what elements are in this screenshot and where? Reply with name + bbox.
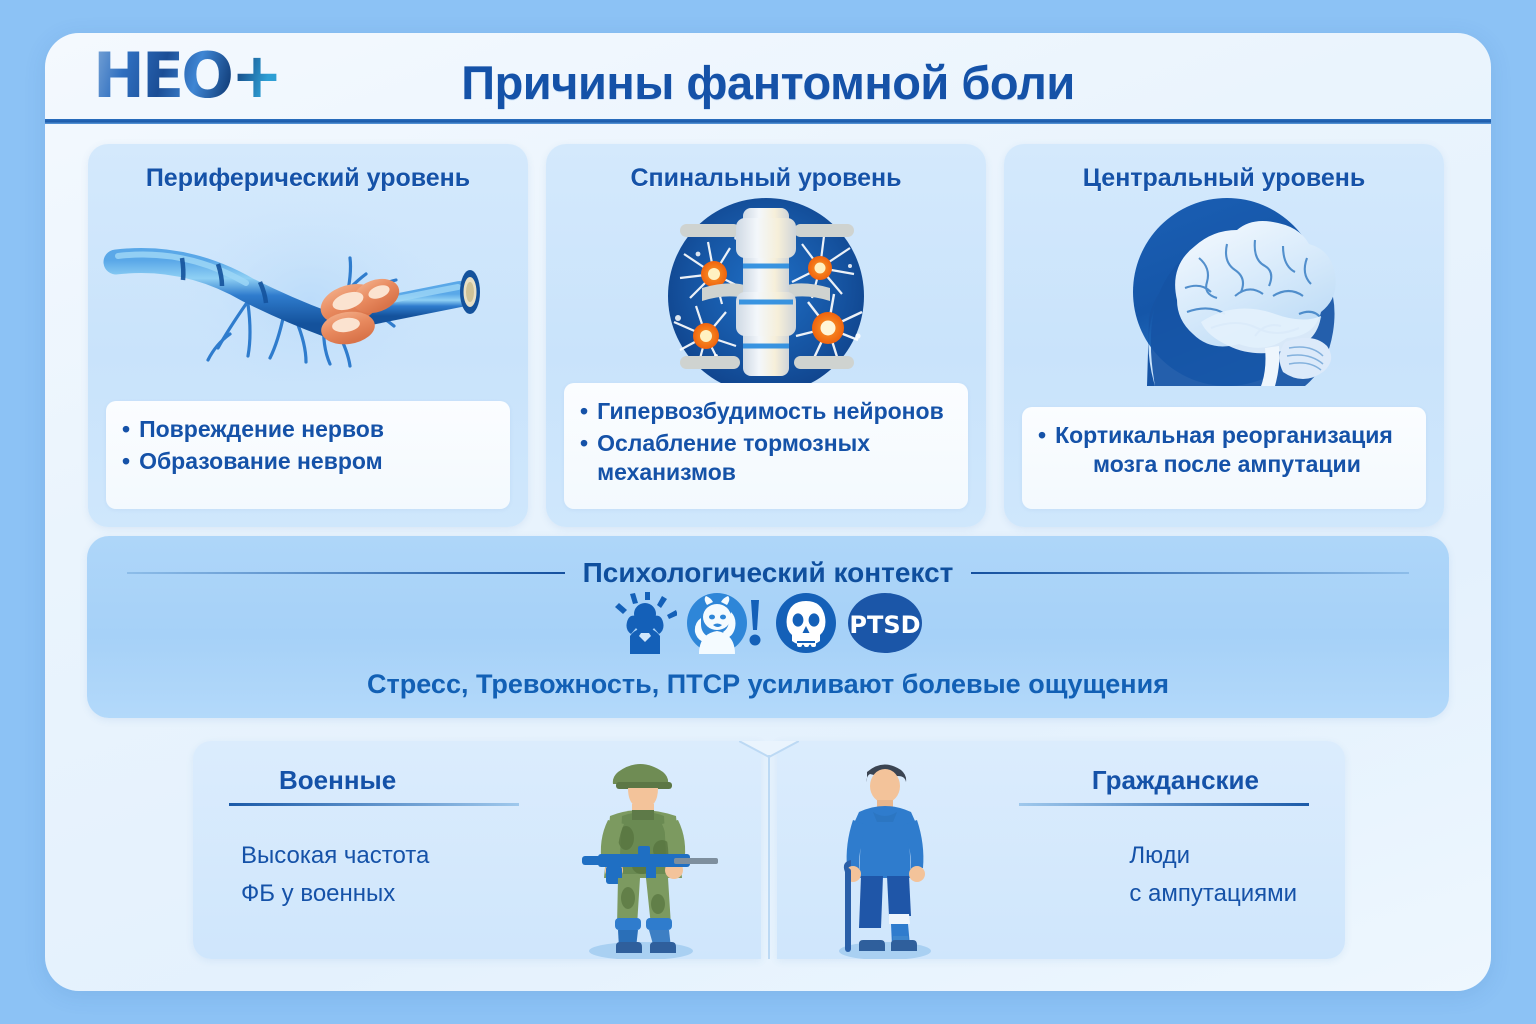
page-title: Причины фантомной боли <box>45 55 1491 110</box>
bullet-dot: • <box>1038 421 1046 479</box>
psych-rule-right <box>971 572 1409 574</box>
bullet-dot: • <box>580 397 588 426</box>
skull-icon <box>775 592 837 659</box>
level-card-spinal[interactable]: Спинальный уровень <box>546 144 986 527</box>
anxiety-person-exclamation-icon <box>687 592 765 659</box>
psych-icon-row: PTSD <box>87 594 1449 656</box>
brain-profile-illustration <box>1004 196 1444 386</box>
psychological-context-panel[interactable]: Психологический контекст <box>87 536 1449 718</box>
bullet-item: • Ослабление тормозных механизмов <box>580 429 952 487</box>
bullet-text-line2: мозга после ампутации <box>1055 450 1393 479</box>
group-civilian-text: Люди с ампутациями <box>1129 837 1297 913</box>
psych-heading-row: Психологический контекст <box>127 558 1409 588</box>
bullet-item: • Гипервозбудимость нейронов <box>580 397 952 426</box>
group-military-heading: Военные <box>279 765 396 796</box>
bullet-text: Ослабление тормозных механизмов <box>597 429 870 487</box>
population-groups: Военные Высокая частота ФБ у военных <box>193 741 1345 959</box>
psych-rule-left <box>127 572 565 574</box>
bullet-text-line1: Ослабление тормозных <box>597 430 870 456</box>
level-card-peripheral-title: Периферический уровень <box>88 164 528 193</box>
ptsd-badge-icon: PTSD <box>847 592 923 659</box>
header-divider <box>45 119 1491 124</box>
ptsd-badge-label: PTSD <box>849 611 920 639</box>
bullet-text: Гипервозбудимость нейронов <box>597 397 944 426</box>
level-card-spinal-title: Спинальный уровень <box>546 164 986 193</box>
bullet-text-line2: механизмов <box>597 459 736 485</box>
group-panel-military[interactable]: Военные Высокая частота ФБ у военных <box>193 741 761 959</box>
level-card-spinal-bullets: • Гипервозбудимость нейронов • Ослаблени… <box>564 383 968 509</box>
bullet-text: Образование невром <box>139 447 383 476</box>
group-military-rule <box>229 803 519 806</box>
psych-caption: Стресс, Тревожность, ПТСР усиливают боле… <box>87 669 1449 700</box>
psych-title: Психологический контекст <box>583 557 954 589</box>
bullet-item: • Повреждение нервов <box>122 415 494 444</box>
level-card-central-bullets: • Кортикальная реорганизация мозга после… <box>1022 407 1426 509</box>
level-card-peripheral[interactable]: Периферический уровень <box>88 144 528 527</box>
bullet-text: Повреждение нервов <box>139 415 384 444</box>
group-civilian-line1: Люди <box>1129 837 1297 875</box>
group-military-text: Высокая частота ФБ у военных <box>241 837 429 913</box>
civilian-amputee-figure <box>807 746 957 959</box>
stress-person-icon <box>613 592 677 659</box>
poster-header: HEO+ Причины фантомной боли <box>45 33 1491 121</box>
group-separator-notch <box>739 741 799 959</box>
level-card-peripheral-bullets: • Повреждение нервов • Образование невро… <box>106 401 510 509</box>
levels-row: Периферический уровень <box>88 144 1448 527</box>
spinal-cord-neurons-illustration <box>546 196 986 386</box>
bullet-text: Кортикальная реорганизация мозга после а… <box>1055 421 1393 479</box>
bullet-dot: • <box>122 447 130 476</box>
damaged-nerve-illustration <box>88 196 528 386</box>
bullet-dot: • <box>580 429 588 487</box>
infographic-poster: HEO+ Причины фантомной боли Периферическ… <box>0 0 1536 1024</box>
level-card-central[interactable]: Центральный уровень <box>1004 144 1444 527</box>
bullet-dot: • <box>122 415 130 444</box>
group-civilian-rule <box>1019 803 1309 806</box>
bullet-item: • Кортикальная реорганизация мозга после… <box>1038 421 1410 479</box>
group-panel-civilian[interactable]: Гражданские Люди с ампутациями <box>777 741 1345 959</box>
group-civilian-line2: с ампутациями <box>1129 875 1297 913</box>
bullet-item: • Образование невром <box>122 447 494 476</box>
group-military-line2: ФБ у военных <box>241 875 429 913</box>
group-military-line1: Высокая частота <box>241 837 429 875</box>
soldier-amputee-figure <box>546 746 731 959</box>
bullet-text-line1: Кортикальная реорганизация <box>1055 422 1393 448</box>
group-civilian-heading: Гражданские <box>1092 765 1259 796</box>
level-card-central-title: Центральный уровень <box>1004 164 1444 193</box>
poster-sheet: HEO+ Причины фантомной боли Периферическ… <box>45 33 1491 991</box>
